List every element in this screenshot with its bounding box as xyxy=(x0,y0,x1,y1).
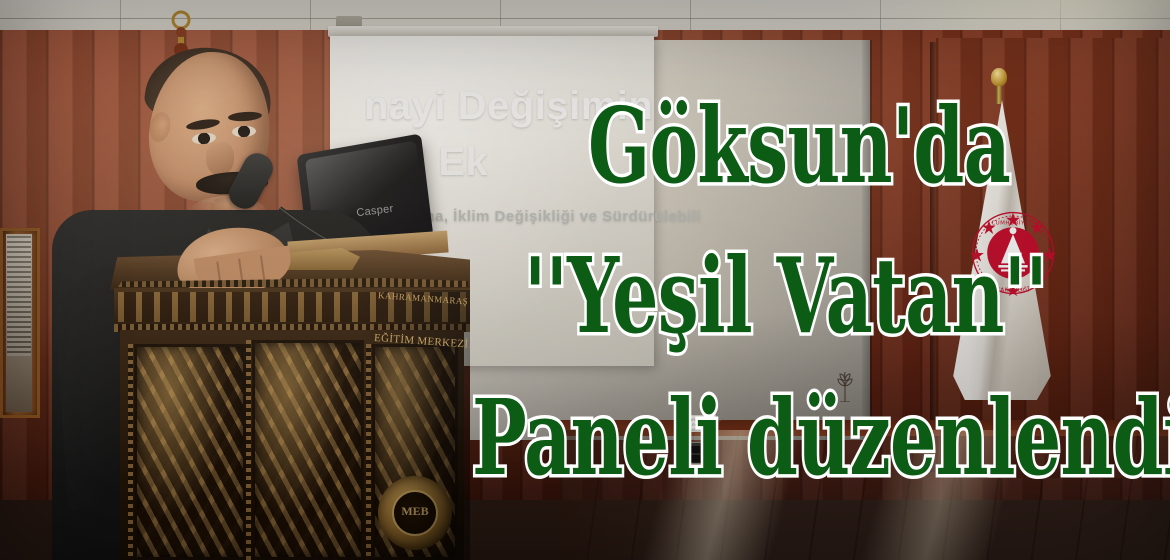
news-photo-image: nayi Değişimin eşil Ek sınma, İklim Deği… xyxy=(0,0,1170,560)
headline-line-2: ''Yeşil Vatan'' xyxy=(524,234,1047,357)
headline-overlay: Göksun'da ''Yeşil Vatan'' Paneli düzenle… xyxy=(0,0,1170,560)
headline-line-1: Göksun'da xyxy=(588,84,1010,207)
headline-line-3: Paneli düzenlendi. xyxy=(472,376,1170,499)
